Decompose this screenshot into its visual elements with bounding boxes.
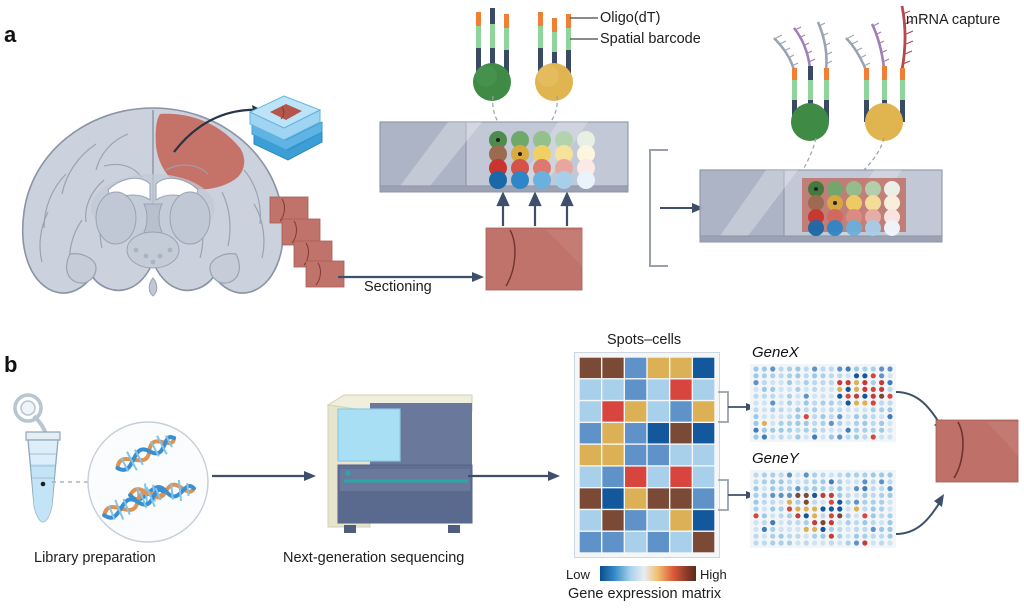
- spot: [837, 421, 842, 426]
- spot: [787, 540, 792, 545]
- spot: [871, 366, 876, 371]
- spot: [829, 428, 834, 433]
- heatmap-cell: [648, 467, 669, 487]
- spot: [829, 421, 834, 426]
- spot: [770, 394, 775, 399]
- spot: [829, 434, 834, 439]
- spot: [762, 400, 767, 405]
- heatmap-cell: [602, 401, 623, 421]
- spot: [820, 380, 825, 385]
- spot: [770, 500, 775, 505]
- spot: [770, 434, 775, 439]
- spot: [829, 407, 834, 412]
- spot: [829, 527, 834, 532]
- spot: [812, 527, 817, 532]
- spot: [829, 472, 834, 477]
- spot: [812, 534, 817, 539]
- spot: [871, 500, 876, 505]
- spot: [854, 472, 859, 477]
- spot: [829, 540, 834, 545]
- spot: [887, 373, 892, 378]
- spot: [753, 500, 758, 505]
- heatmap-cell: [693, 401, 714, 421]
- spot: [854, 421, 859, 426]
- spot: [804, 421, 809, 426]
- spot: [753, 387, 758, 392]
- heatmap-cell: [670, 379, 691, 399]
- spot: [846, 486, 851, 491]
- spot: [879, 380, 884, 385]
- spot: [862, 506, 867, 511]
- spot: [779, 373, 784, 378]
- spot: [862, 421, 867, 426]
- spot: [779, 520, 784, 525]
- heatmap-cell: [693, 423, 714, 443]
- spot: [837, 373, 842, 378]
- cryomold: [244, 88, 330, 164]
- spot: [887, 407, 892, 412]
- spot: [779, 472, 784, 477]
- spot: [854, 493, 859, 498]
- spot: [762, 434, 767, 439]
- spot: [854, 400, 859, 405]
- spot: [820, 394, 825, 399]
- spot: [879, 366, 884, 371]
- heatmap-cell: [602, 423, 623, 443]
- spot: [787, 373, 792, 378]
- spot: [854, 394, 859, 399]
- spot: [770, 387, 775, 392]
- spot: [879, 434, 884, 439]
- spot: [862, 534, 867, 539]
- spot: [854, 479, 859, 484]
- spot: [787, 400, 792, 405]
- spot: [862, 493, 867, 498]
- spot: [812, 540, 817, 545]
- spot: [804, 414, 809, 419]
- spot: [795, 428, 800, 433]
- spot: [804, 400, 809, 405]
- spot: [887, 400, 892, 405]
- spot: [820, 527, 825, 532]
- arrow-geney-to-tissue: [896, 492, 952, 538]
- spot: [795, 520, 800, 525]
- spot: [812, 513, 817, 518]
- spot: [879, 479, 884, 484]
- spot: [770, 407, 775, 412]
- spot: [854, 534, 859, 539]
- spot: [804, 472, 809, 477]
- spot: [820, 513, 825, 518]
- spot: [846, 527, 851, 532]
- spot: [871, 486, 876, 491]
- spot: [779, 414, 784, 419]
- spot: [846, 407, 851, 412]
- spot: [887, 428, 892, 433]
- spot: [871, 506, 876, 511]
- spot: [820, 407, 825, 412]
- spot: [871, 513, 876, 518]
- spot: [837, 527, 842, 532]
- heatmap-cell: [625, 445, 646, 465]
- spot: [846, 506, 851, 511]
- spot: [862, 434, 867, 439]
- spot: [795, 527, 800, 532]
- spot: [871, 400, 876, 405]
- spot: [812, 472, 817, 477]
- spot: [829, 387, 834, 392]
- heatmap-cell: [670, 510, 691, 530]
- spot: [879, 428, 884, 433]
- label-gene-y: GeneY: [752, 450, 799, 467]
- spot: [837, 414, 842, 419]
- legend-low-label: Low: [566, 567, 590, 582]
- spot: [795, 500, 800, 505]
- spot: [795, 373, 800, 378]
- spot: [854, 387, 859, 392]
- spot: [829, 500, 834, 505]
- spot: [795, 472, 800, 477]
- heatmap-cell: [625, 379, 646, 399]
- spot: [753, 400, 758, 405]
- spot: [762, 387, 767, 392]
- spot: [812, 520, 817, 525]
- heatmap-cell: [625, 401, 646, 421]
- heatmap-cell: [670, 488, 691, 508]
- spot: [770, 493, 775, 498]
- heatmap-cell: [602, 488, 623, 508]
- spot: [804, 394, 809, 399]
- spot: [829, 513, 834, 518]
- spot: [770, 479, 775, 484]
- spot: [871, 380, 876, 385]
- spot: [829, 506, 834, 511]
- spot: [787, 534, 792, 539]
- heatmap-cell: [580, 379, 601, 399]
- spot: [887, 493, 892, 498]
- spot: [862, 472, 867, 477]
- spot: [879, 500, 884, 505]
- spot: [820, 366, 825, 371]
- dna-magnifier-circle: [86, 420, 210, 544]
- spot: [787, 366, 792, 371]
- spot: [779, 400, 784, 405]
- spot: [829, 380, 834, 385]
- spot: [887, 472, 892, 477]
- spot: [854, 520, 859, 525]
- spot: [795, 486, 800, 491]
- spot: [779, 500, 784, 505]
- spot: [770, 540, 775, 545]
- panel-a-letter: a: [4, 22, 16, 48]
- mrna-capture-group-green: [772, 8, 852, 128]
- spot: [804, 506, 809, 511]
- spot: [804, 434, 809, 439]
- heatmap-cell: [602, 532, 623, 552]
- spot: [753, 527, 758, 532]
- spot: [879, 527, 884, 532]
- spot: [762, 520, 767, 525]
- spot: [829, 486, 834, 491]
- spot: [871, 421, 876, 426]
- spot: [887, 387, 892, 392]
- bracket-to-slide-2: [646, 148, 706, 270]
- spot: [820, 373, 825, 378]
- spot: [787, 513, 792, 518]
- arrow-sequencer-to-matrix: [468, 470, 564, 482]
- heatmap-cell: [625, 358, 646, 378]
- spot: [862, 414, 867, 419]
- spot: [871, 373, 876, 378]
- spot: [846, 500, 851, 505]
- label-sectioning: Sectioning: [364, 279, 432, 295]
- spot: [812, 407, 817, 412]
- spot: [762, 506, 767, 511]
- spot: [820, 400, 825, 405]
- expression-colorbar: [600, 566, 696, 582]
- spot: [846, 534, 851, 539]
- spot: [812, 428, 817, 433]
- spot: [795, 387, 800, 392]
- spot: [770, 486, 775, 491]
- spot: [770, 472, 775, 477]
- spot: [837, 434, 842, 439]
- spot: [762, 407, 767, 412]
- spot: [871, 414, 876, 419]
- heatmap-cell: [648, 510, 669, 530]
- spot: [762, 534, 767, 539]
- heatmap-cell: [580, 358, 601, 378]
- spot: [779, 407, 784, 412]
- heatmap-cell: [625, 467, 646, 487]
- spot: [787, 479, 792, 484]
- spot: [787, 493, 792, 498]
- spot: [837, 513, 842, 518]
- spot: [854, 506, 859, 511]
- spot: [779, 366, 784, 371]
- heatmap-cell: [648, 358, 669, 378]
- spot: [887, 520, 892, 525]
- spot: [846, 387, 851, 392]
- spot: [787, 394, 792, 399]
- spot: [887, 534, 892, 539]
- spot: [837, 534, 842, 539]
- heatmap-cell: [648, 401, 669, 421]
- spot: [854, 540, 859, 545]
- spot: [753, 520, 758, 525]
- spot: [879, 534, 884, 539]
- spot: [879, 387, 884, 392]
- spot: [854, 500, 859, 505]
- tissue-result: [936, 420, 1018, 482]
- spot: [762, 380, 767, 385]
- heatmap-cell: [670, 467, 691, 487]
- spot: [787, 500, 792, 505]
- spot: [846, 520, 851, 525]
- spot: [829, 414, 834, 419]
- spot: [862, 373, 867, 378]
- spot: [762, 540, 767, 545]
- spot: [820, 421, 825, 426]
- spot: [846, 380, 851, 385]
- spot: [837, 520, 842, 525]
- spot: [846, 472, 851, 477]
- spots-cells-heatmap: [574, 352, 720, 558]
- spot: [854, 434, 859, 439]
- spot: [804, 380, 809, 385]
- heatmap-cell: [693, 532, 714, 552]
- spot: [846, 394, 851, 399]
- heatmap-cell: [693, 379, 714, 399]
- spot: [804, 486, 809, 491]
- spot: [829, 493, 834, 498]
- label-gene-x: GeneX: [752, 344, 799, 361]
- spot: [887, 540, 892, 545]
- spot: [846, 434, 851, 439]
- spot: [762, 428, 767, 433]
- spot: [779, 387, 784, 392]
- spot: [812, 387, 817, 392]
- spot: [862, 479, 867, 484]
- spot: [854, 414, 859, 419]
- label-next-generation-sequencing: Next-generation sequencing: [283, 550, 464, 566]
- spot: [795, 534, 800, 539]
- arrow-library-to-sequencer: [212, 470, 320, 482]
- spot: [812, 394, 817, 399]
- spot: [837, 540, 842, 545]
- spot: [795, 513, 800, 518]
- spot: [812, 421, 817, 426]
- spot: [787, 434, 792, 439]
- heatmap-cell: [602, 445, 623, 465]
- spot: [862, 366, 867, 371]
- heatmap-cell: [693, 467, 714, 487]
- spot: [887, 434, 892, 439]
- spot: [795, 380, 800, 385]
- spot: [762, 479, 767, 484]
- spot: [846, 373, 851, 378]
- spot: [753, 506, 758, 511]
- heatmap-cell: [625, 488, 646, 508]
- spot: [879, 407, 884, 412]
- spot: [779, 527, 784, 532]
- spot: [879, 513, 884, 518]
- caption-gene-expression-matrix: Gene expression matrix: [568, 586, 721, 602]
- spot: [787, 380, 792, 385]
- spot: [820, 493, 825, 498]
- microscope-slide-2: [698, 166, 946, 250]
- heatmap-cell: [580, 532, 601, 552]
- spot: [871, 479, 876, 484]
- spot: [846, 400, 851, 405]
- spot: [753, 428, 758, 433]
- label-oligo-dt: Oligo(dT): [600, 10, 660, 26]
- spot: [795, 366, 800, 371]
- spot: [837, 486, 842, 491]
- spot: [887, 500, 892, 505]
- spot: [753, 394, 758, 399]
- ngs-sequencer: [322, 385, 482, 535]
- spot: [862, 407, 867, 412]
- spot: [837, 506, 842, 511]
- spot: [837, 493, 842, 498]
- spot: [812, 486, 817, 491]
- spot: [804, 407, 809, 412]
- heatmap-cell: [580, 423, 601, 443]
- spot: [820, 506, 825, 511]
- spot: [770, 428, 775, 433]
- heatmap-cell: [580, 488, 601, 508]
- spot: [753, 534, 758, 539]
- spot: [762, 472, 767, 477]
- spot: [854, 513, 859, 518]
- heatmap-cell: [670, 423, 691, 443]
- spot: [779, 479, 784, 484]
- spot: [820, 479, 825, 484]
- spot: [829, 400, 834, 405]
- heatmap-cell: [648, 445, 669, 465]
- spot: [762, 394, 767, 399]
- spot: [762, 486, 767, 491]
- heatmap-cell: [625, 532, 646, 552]
- spot: [887, 366, 892, 371]
- label-spots-cells: Spots–cells: [607, 332, 681, 348]
- spot: [837, 394, 842, 399]
- spot: [779, 394, 784, 399]
- spot: [812, 506, 817, 511]
- spot: [837, 380, 842, 385]
- spot: [770, 520, 775, 525]
- spot: [753, 472, 758, 477]
- spot: [829, 373, 834, 378]
- spot: [779, 421, 784, 426]
- spot: [879, 421, 884, 426]
- spot: [862, 428, 867, 433]
- heatmap-cell: [648, 423, 669, 443]
- legend-high-label: High: [700, 567, 727, 582]
- spot: [770, 513, 775, 518]
- spot: [804, 387, 809, 392]
- spot: [854, 486, 859, 491]
- spot: [829, 520, 834, 525]
- spot: [753, 373, 758, 378]
- spot: [862, 394, 867, 399]
- spot: [795, 493, 800, 498]
- heatmap-cell: [602, 358, 623, 378]
- spot: [770, 534, 775, 539]
- spot: [779, 534, 784, 539]
- spot: [829, 394, 834, 399]
- spot: [804, 493, 809, 498]
- eppendorf-tube: [6, 392, 76, 532]
- heatmap-cell: [670, 532, 691, 552]
- spot: [820, 520, 825, 525]
- spot: [795, 421, 800, 426]
- heatmap-cell: [693, 445, 714, 465]
- spot: [862, 540, 867, 545]
- heatmap-cell: [625, 423, 646, 443]
- spot: [846, 513, 851, 518]
- spot: [871, 534, 876, 539]
- spot: [804, 520, 809, 525]
- spot: [787, 486, 792, 491]
- spot: [871, 387, 876, 392]
- spot: [887, 486, 892, 491]
- heatmap-cell: [648, 488, 669, 508]
- spot: [854, 373, 859, 378]
- spot: [887, 394, 892, 399]
- spot: [846, 493, 851, 498]
